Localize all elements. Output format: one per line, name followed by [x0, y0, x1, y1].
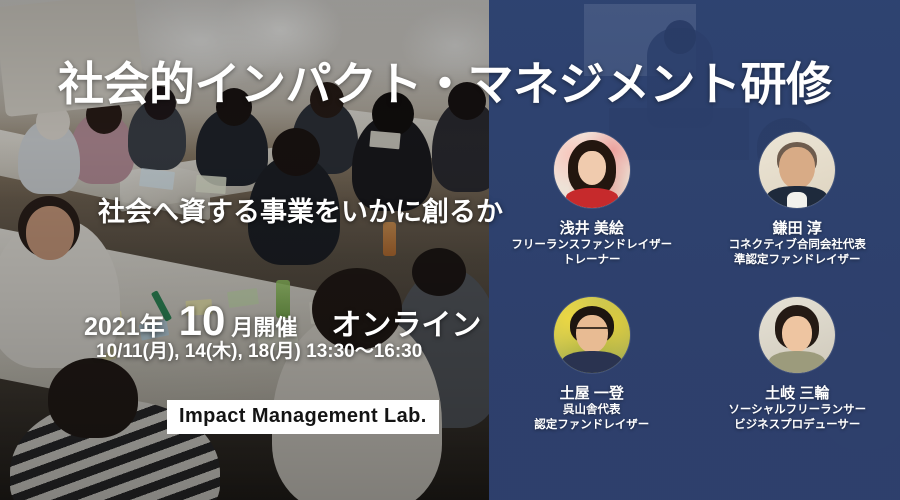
- speaker-card: 土岐 三輪 ソーシャルフリーランサー ビジネスプロデューサー: [695, 297, 900, 462]
- speaker-role-line2: トレーナー: [563, 253, 621, 268]
- speaker-role-line1: 呉山舎代表: [563, 403, 621, 418]
- avatar-face: [578, 151, 606, 185]
- avatar-body: [562, 351, 622, 373]
- speaker-card: 鎌田 淳 コネクティブ合同会社代表 準認定ファンドレイザー: [695, 132, 900, 297]
- page-title: 社会的インパクト・マネジメント研修: [58, 60, 868, 108]
- speaker-name: 土岐 三輪: [765, 382, 829, 403]
- speaker-role-line2: ビジネスプロデューサー: [734, 418, 860, 433]
- avatar-body: [566, 188, 618, 208]
- organization-logo: Impact Management Lab.: [167, 400, 439, 434]
- subtitle: 社会へ資する事業をいかに創るか: [98, 190, 503, 229]
- speaker-name: 鎌田 淳: [773, 217, 822, 238]
- avatar-shirt: [787, 192, 807, 208]
- speaker-name: 浅井 美絵: [560, 217, 624, 238]
- avatar: [554, 132, 630, 208]
- speaker-card: 浅井 美絵 フリーランスファンドレイザー トレーナー: [489, 132, 695, 297]
- speaker-name: 土屋 一登: [560, 382, 624, 403]
- avatar: [759, 132, 835, 208]
- speaker-grid: 浅井 美絵 フリーランスファンドレイザー トレーナー 鎌田 淳 コネクティブ合同…: [489, 132, 900, 462]
- speaker-role-line2: 準認定ファンドレイザー: [734, 253, 861, 268]
- glasses-icon: [576, 327, 608, 335]
- speaker-role-line2: 認定ファンドレイザー: [534, 418, 649, 433]
- avatar-body: [769, 351, 825, 373]
- avatar: [759, 297, 835, 373]
- avatar-face: [779, 147, 815, 189]
- avatar: [554, 297, 630, 373]
- speaker-role-line1: コネクティブ合同会社代表: [729, 238, 866, 253]
- speaker-role-line1: フリーランスファンドレイザー: [511, 238, 672, 253]
- speaker-card: 土屋 一登 呉山舎代表 認定ファンドレイザー: [489, 297, 695, 462]
- speaker-role-line1: ソーシャルフリーランサー: [728, 403, 866, 418]
- event-banner: 社会的インパクト・マネジメント研修 社会へ資する事業をいかに創るか 2021年 …: [0, 0, 900, 500]
- schedule-detail: 10/11(月), 14(木), 18(月) 13:30〜16:30: [96, 336, 422, 363]
